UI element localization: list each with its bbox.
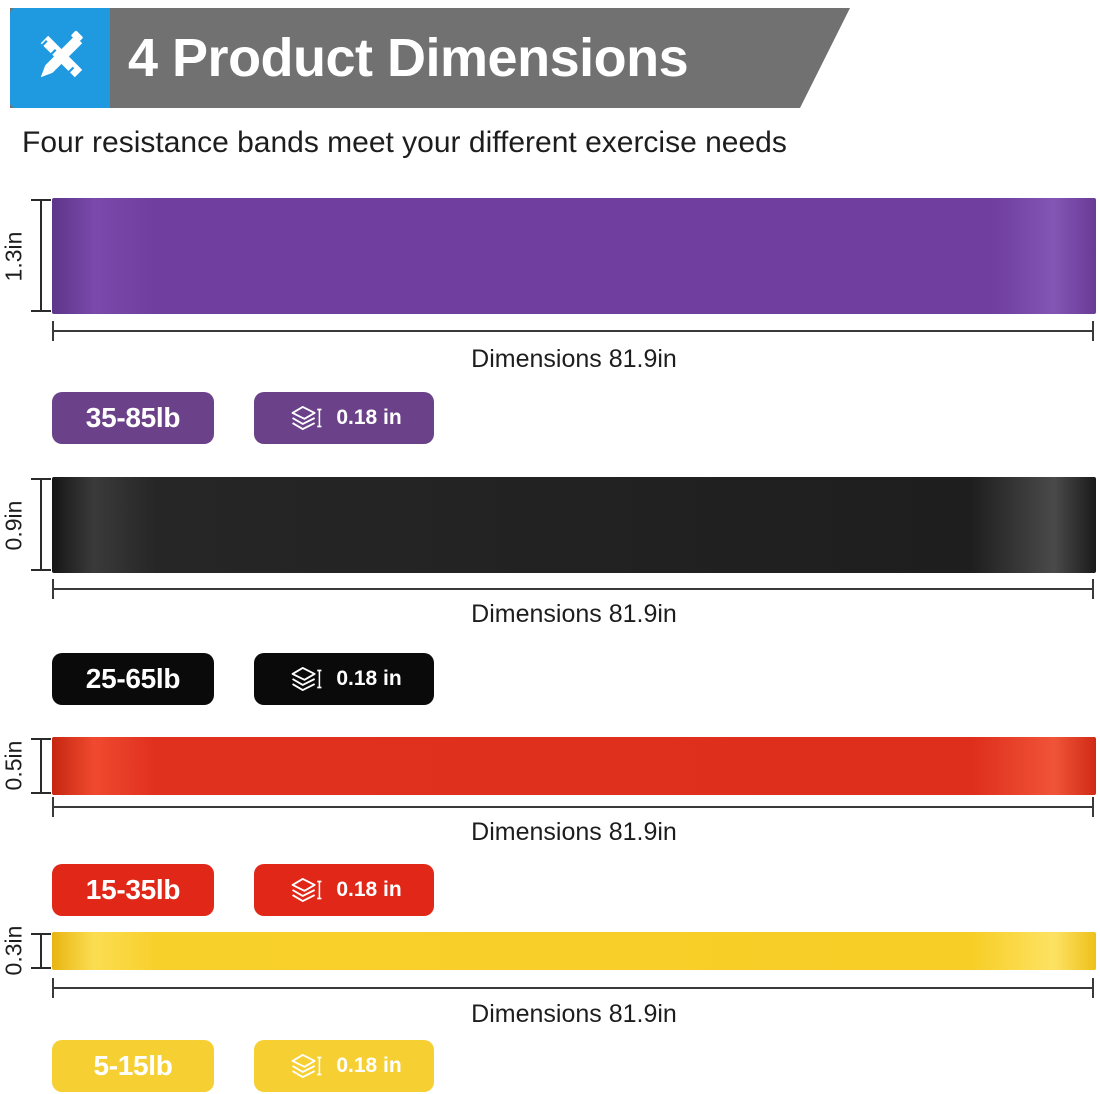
page-title: 4 Product Dimensions	[128, 8, 688, 108]
thickness-badge-label: 0.18 in	[336, 878, 401, 902]
badges-red: 15-35lb 0.18 in	[52, 864, 434, 916]
length-dimension-line-black	[52, 588, 1094, 590]
length-label-red: Dimensions 81.9in	[52, 818, 1096, 847]
height-label-red: 0.5in	[1, 736, 28, 796]
height-dimension-line-yellow	[40, 933, 42, 969]
height-label-yellow: 0.3in	[1, 921, 28, 981]
height-label-black: 0.9in	[1, 496, 28, 556]
length-dimension-line-red	[52, 806, 1094, 808]
header: 4 Product Dimensions	[10, 8, 850, 108]
height-dimension-line-black	[40, 478, 42, 571]
length-dimension-line-yellow	[52, 987, 1094, 989]
thickness-badge-purple[interactable]: 0.18 in	[254, 392, 434, 444]
height-label-purple: 1.3in	[1, 227, 28, 287]
layer-stack-icon	[290, 403, 324, 433]
height-dimension-line-red	[40, 738, 42, 794]
weight-badge-label: 15-35lb	[86, 874, 180, 906]
layer-stack-icon	[290, 875, 324, 905]
thickness-badge-black[interactable]: 0.18 in	[254, 653, 434, 705]
length-dimension-line-purple	[52, 330, 1094, 332]
length-label-purple: Dimensions 81.9in	[52, 345, 1096, 374]
weight-badge-label: 5-15lb	[93, 1050, 172, 1082]
weight-badge-label: 35-85lb	[86, 402, 180, 434]
weight-badge-red[interactable]: 15-35lb	[52, 864, 214, 916]
thickness-badge-label: 0.18 in	[336, 1054, 401, 1078]
height-dimension-line-purple	[40, 199, 42, 312]
band-black	[52, 477, 1096, 573]
length-label-yellow: Dimensions 81.9in	[52, 1000, 1096, 1029]
badges-black: 25-65lb 0.18 in	[52, 653, 434, 705]
thickness-badge-red[interactable]: 0.18 in	[254, 864, 434, 916]
ruler-pencil-icon	[23, 21, 97, 95]
layer-stack-icon	[290, 664, 324, 694]
weight-badge-purple[interactable]: 35-85lb	[52, 392, 214, 444]
thickness-badge-label: 0.18 in	[336, 667, 401, 691]
badges-yellow: 5-15lb 0.18 in	[52, 1040, 434, 1092]
thickness-badge-yellow[interactable]: 0.18 in	[254, 1040, 434, 1092]
band-yellow	[52, 932, 1096, 970]
thickness-badge-label: 0.18 in	[336, 406, 401, 430]
subtitle: Four resistance bands meet your differen…	[22, 126, 787, 160]
band-red	[52, 737, 1096, 795]
band-purple	[52, 198, 1096, 314]
length-label-black: Dimensions 81.9in	[52, 600, 1096, 629]
layer-stack-icon	[290, 1051, 324, 1081]
weight-badge-yellow[interactable]: 5-15lb	[52, 1040, 214, 1092]
badges-purple: 35-85lb 0.18 in	[52, 392, 434, 444]
weight-badge-black[interactable]: 25-65lb	[52, 653, 214, 705]
weight-badge-label: 25-65lb	[86, 663, 180, 695]
header-icon-box	[10, 8, 110, 108]
